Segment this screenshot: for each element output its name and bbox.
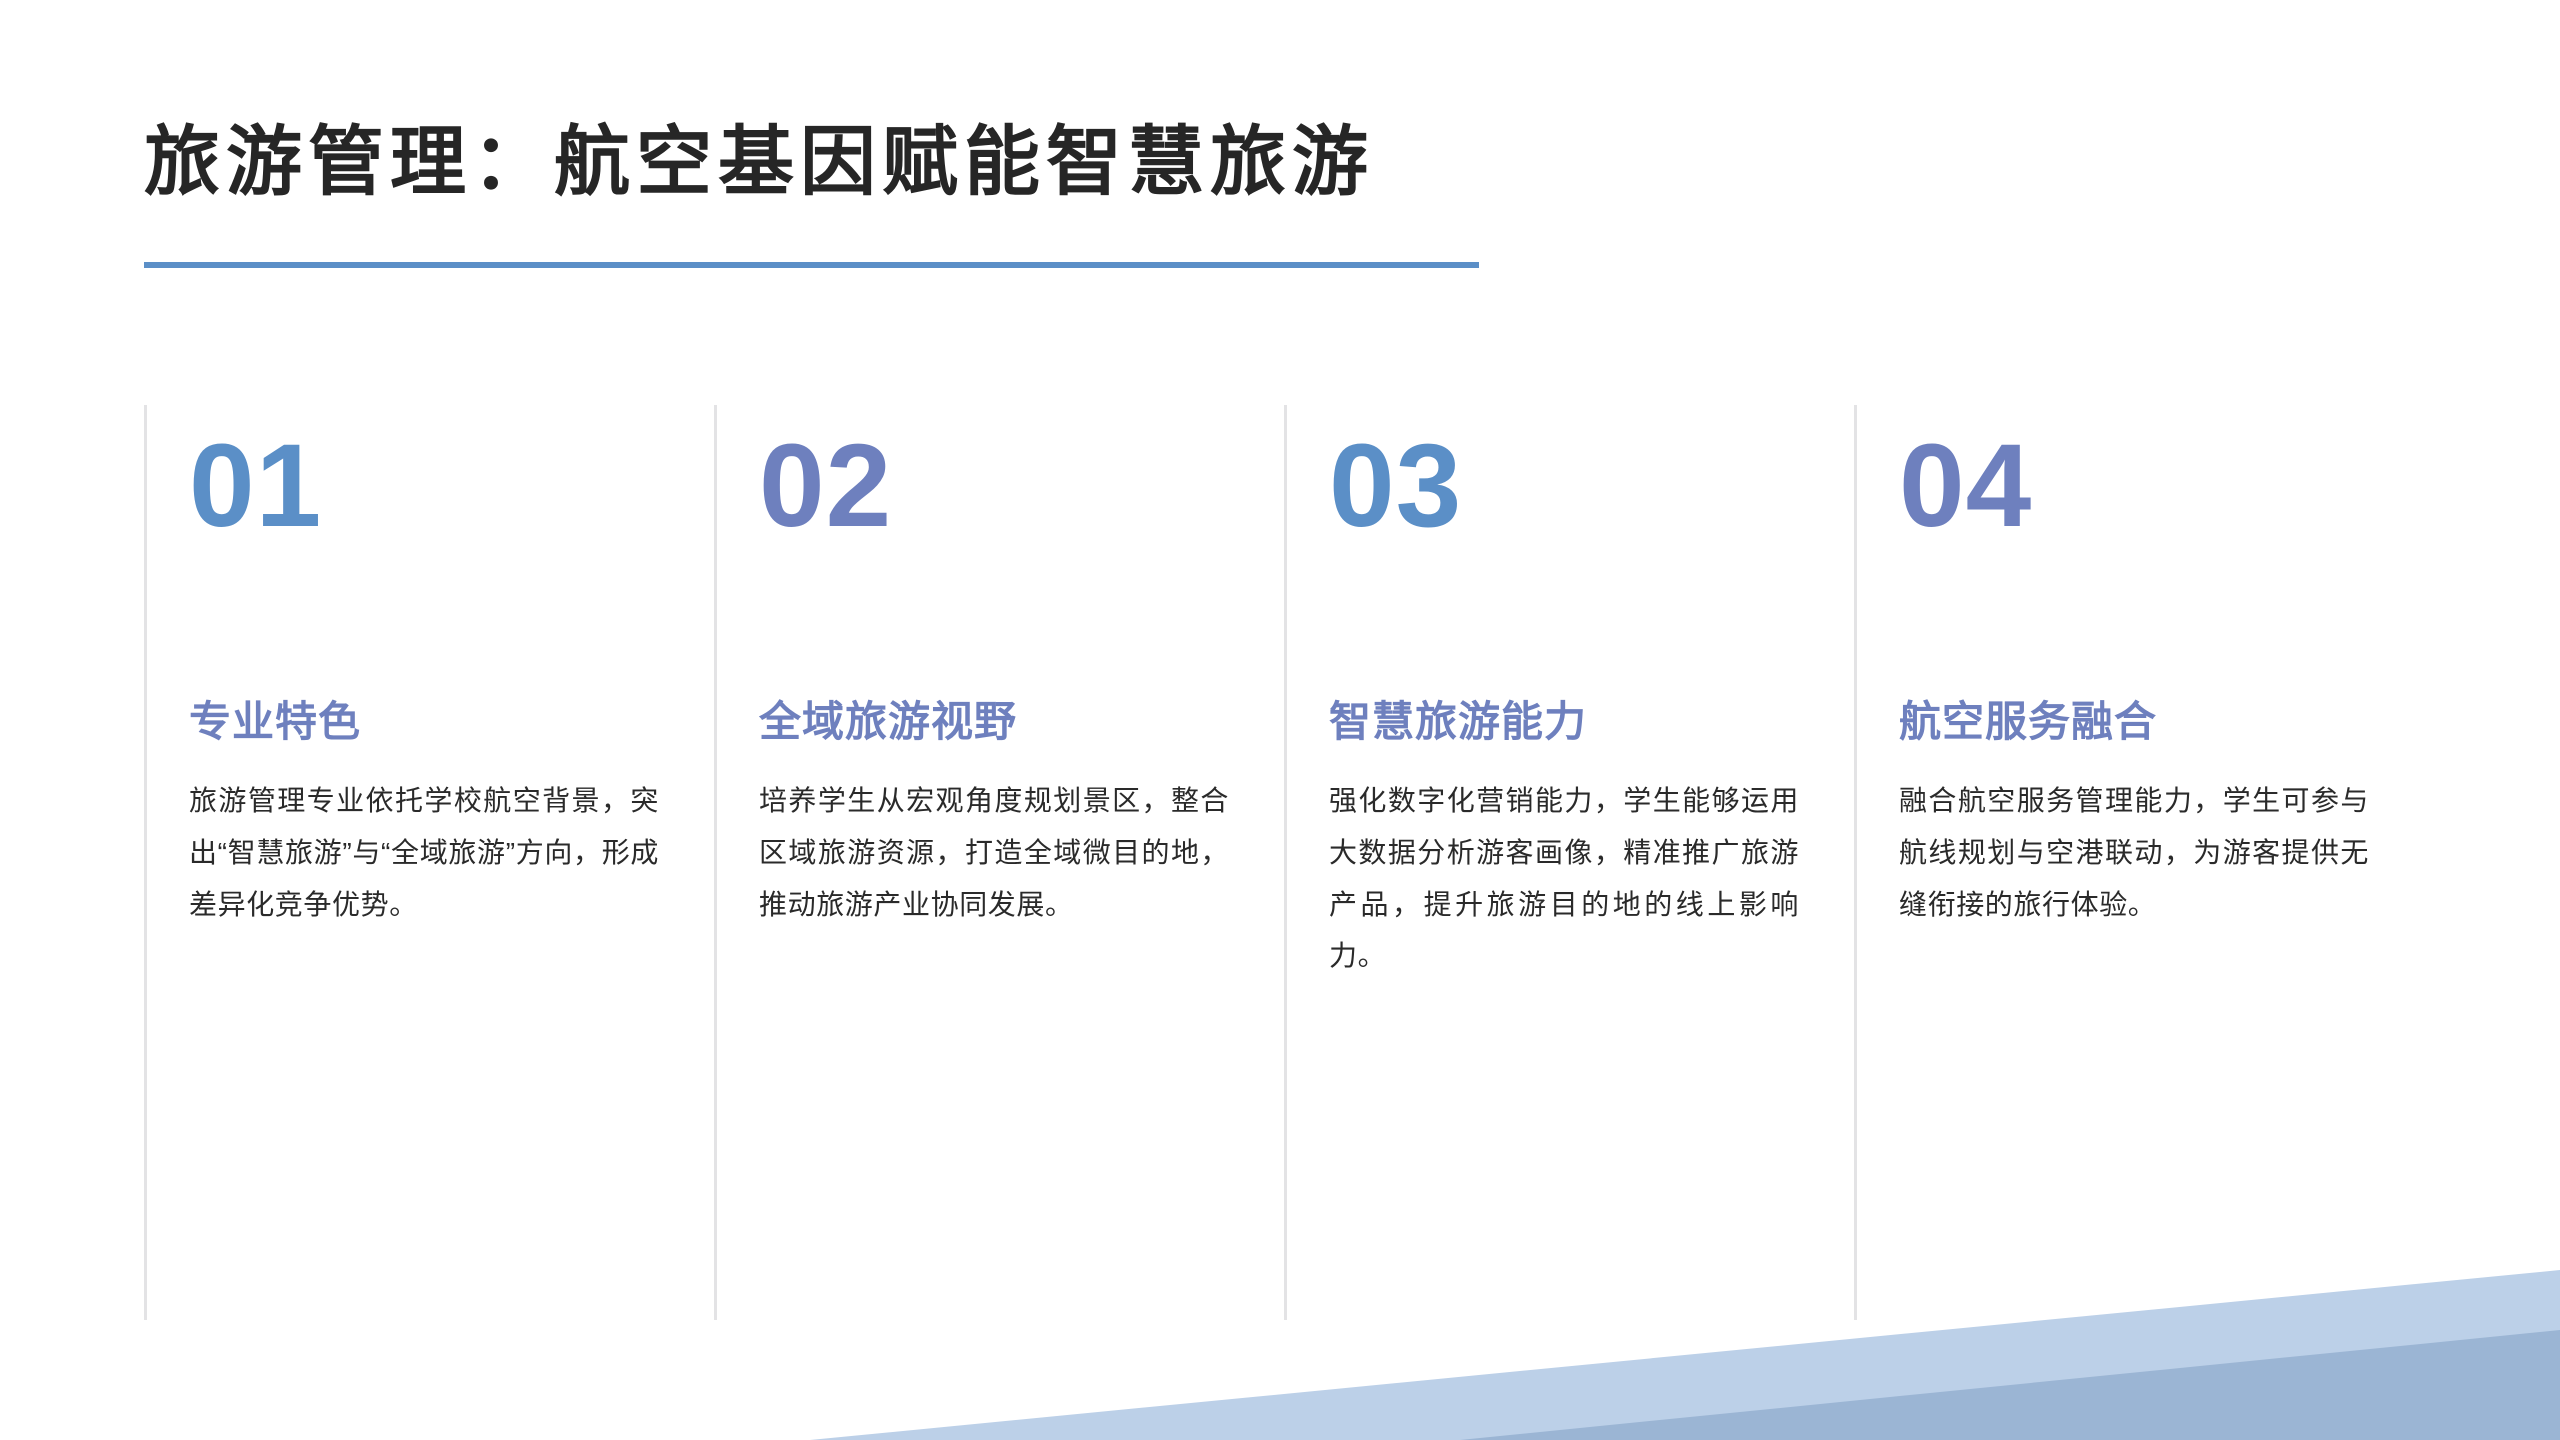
column-body-text: 融合航空服务管理能力，学生可参与航线规划与空港联动，为游客提供无缝衔接的旅行体验… [1899,775,2369,930]
feature-column-03: 03 智慧旅游能力 强化数字化营销能力，学生能够运用大数据分析游客画像，精准推广… [1284,405,1854,1320]
title-block: 旅游管理：航空基因赋能智慧旅游 [144,120,2144,205]
column-heading: 智慧旅游能力 [1329,697,1814,755]
page-title: 旅游管理：航空基因赋能智慧旅游 [144,120,2144,205]
column-heading: 专业特色 [189,697,674,755]
column-body-text: 培养学生从宏观角度规划景区，整合区域旅游资源，打造全域微目的地，推动旅游产业协同… [759,775,1229,930]
column-number: 02 [759,427,1244,555]
column-body-text: 强化数字化营销能力，学生能够运用大数据分析游客画像，精准推广旅游产品，提升旅游目… [1329,775,1799,982]
column-number: 04 [1899,427,2384,555]
title-underline-rule [144,262,1479,268]
feature-columns: 01 专业特色 旅游管理专业依托学校航空背景，突出“智慧旅游”与“全域旅游”方向… [144,405,2424,1320]
column-number: 03 [1329,427,1814,555]
diagonal-band-dark [1460,1330,2560,1440]
column-number: 01 [189,427,674,555]
feature-column-01: 01 专业特色 旅游管理专业依托学校航空背景，突出“智慧旅游”与“全域旅游”方向… [144,405,714,1320]
column-heading: 全域旅游视野 [759,697,1244,755]
column-heading: 航空服务融合 [1899,697,2384,755]
column-body-text: 旅游管理专业依托学校航空背景，突出“智慧旅游”与“全域旅游”方向，形成差异化竞争… [189,775,659,930]
feature-column-02: 02 全域旅游视野 培养学生从宏观角度规划景区，整合区域旅游资源，打造全域微目的… [714,405,1284,1320]
feature-column-04: 04 航空服务融合 融合航空服务管理能力，学生可参与航线规划与空港联动，为游客提… [1854,405,2424,1320]
slide-canvas: 旅游管理：航空基因赋能智慧旅游 01 专业特色 旅游管理专业依托学校航空背景，突… [0,0,2560,1440]
